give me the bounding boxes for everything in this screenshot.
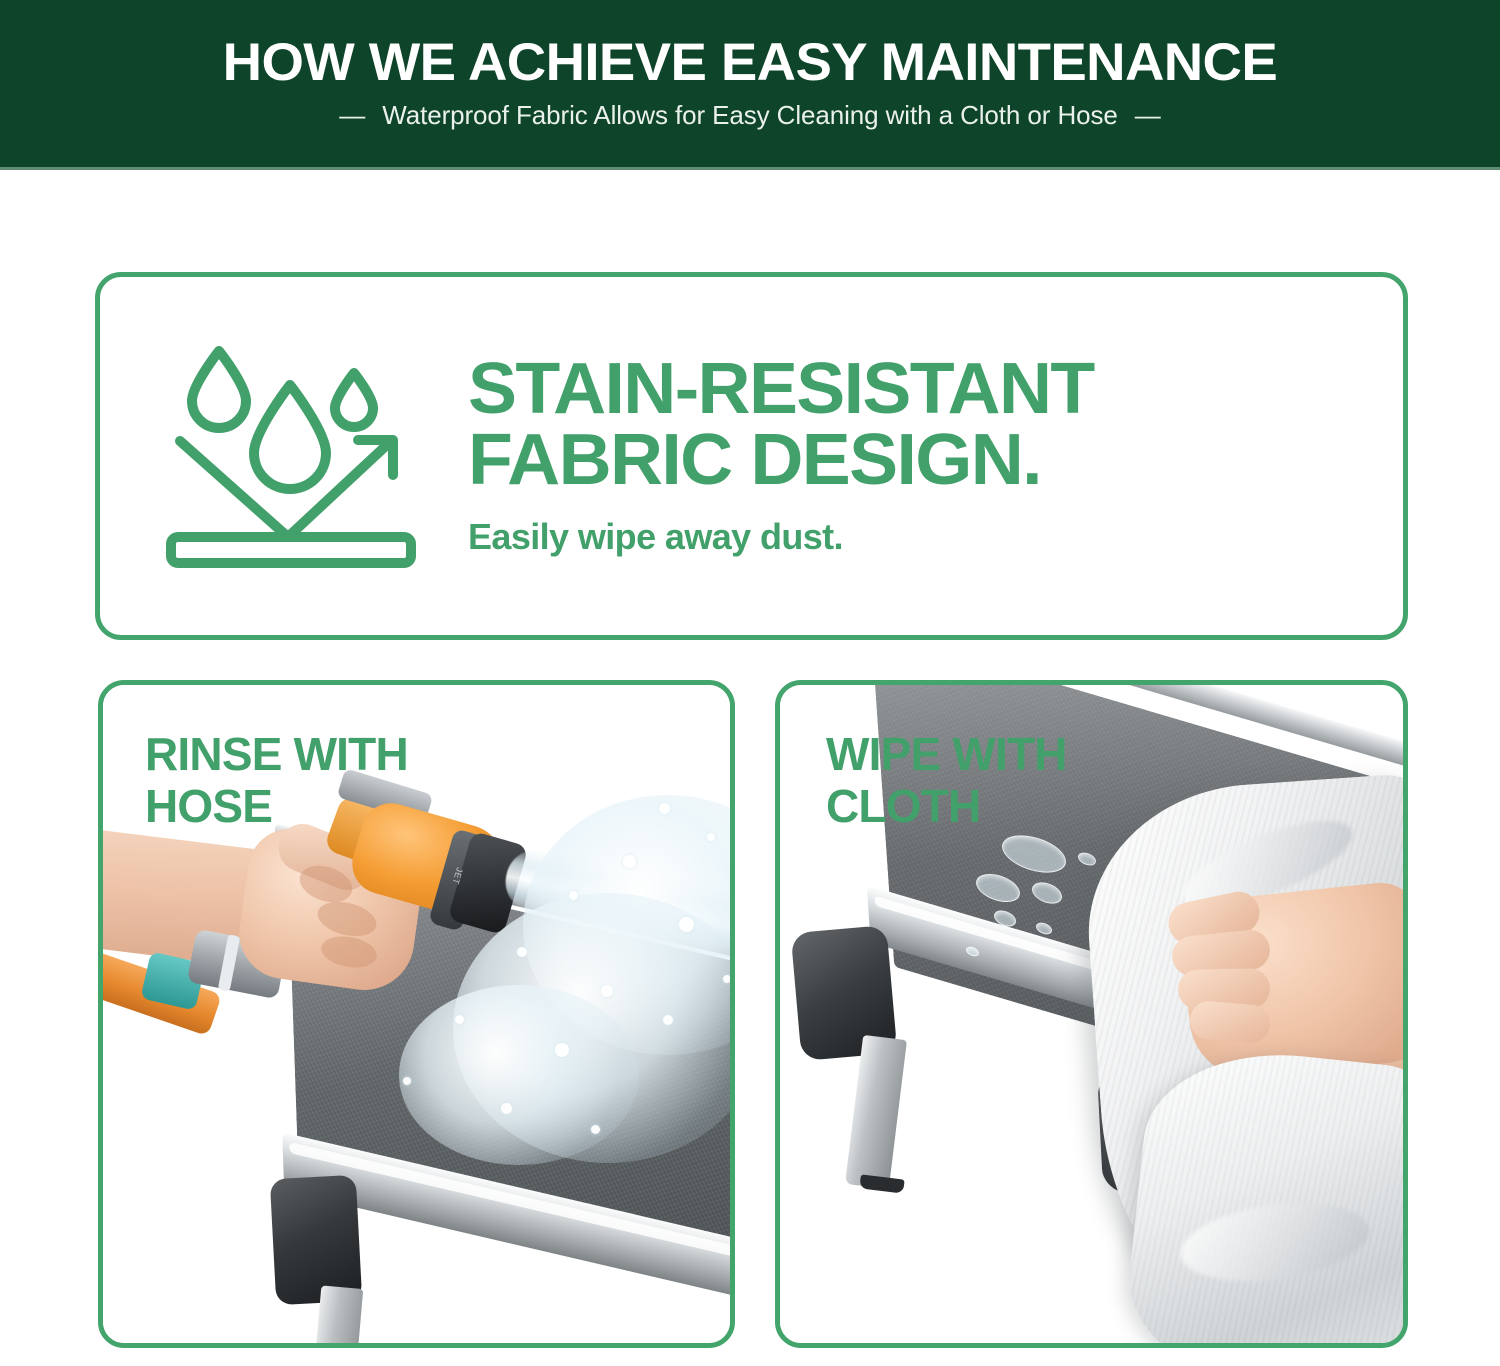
card-label-line-1: WIPE WITH bbox=[826, 728, 1067, 780]
water-droplet bbox=[663, 1015, 673, 1025]
card-label-line-2: HOSE bbox=[145, 780, 272, 832]
feature-heading-line-2: FABRIC DESIGN. bbox=[468, 425, 1401, 496]
feature-heading-line-1: STAIN-RESISTANT bbox=[468, 354, 1401, 425]
card-label-line-2: CLOTH bbox=[826, 780, 980, 832]
water-droplet bbox=[679, 917, 694, 932]
water-repellent-fabric-icon bbox=[162, 341, 430, 578]
page-header: HOW WE ACHIEVE EASY MAINTENANCE — Waterp… bbox=[0, 0, 1500, 170]
water-droplet bbox=[623, 855, 636, 868]
water-droplet bbox=[403, 1077, 411, 1085]
water-droplet bbox=[455, 1015, 464, 1024]
card-label-rinse-with-hose: RINSE WITHHOSE bbox=[145, 729, 408, 833]
page-title: HOW WE ACHIEVE EASY MAINTENANCE bbox=[223, 36, 1278, 90]
water-droplet bbox=[601, 985, 613, 997]
card-label-wipe-with-cloth: WIPE WITHCLOTH bbox=[826, 729, 1067, 833]
finger bbox=[1188, 1000, 1271, 1045]
card-label-line-1: RINSE WITH bbox=[145, 728, 408, 780]
water-droplet bbox=[707, 833, 715, 841]
bed-leg-left bbox=[845, 1035, 907, 1189]
water-droplet bbox=[659, 803, 670, 814]
feature-subtitle: Easily wipe away dust. bbox=[468, 516, 1383, 558]
water-droplet bbox=[555, 1043, 569, 1057]
bed-corner-cap-left bbox=[270, 1175, 362, 1305]
method-card-wipe-with-cloth: WIPE WITHCLOTH bbox=[775, 680, 1408, 1348]
method-card-rinse-with-hose: JET RINSE WITHHOSE bbox=[98, 680, 735, 1348]
water-droplet bbox=[723, 975, 730, 983]
em-dash-right-icon: — bbox=[1135, 102, 1161, 128]
header-subtitle-row: — Waterproof Fabric Allows for Easy Clea… bbox=[339, 100, 1161, 131]
water-droplet bbox=[591, 1125, 600, 1134]
water-droplet bbox=[517, 947, 527, 957]
page-subtitle: Waterproof Fabric Allows for Easy Cleani… bbox=[382, 100, 1118, 131]
feature-card-text: STAIN-RESISTANT FABRIC DESIGN. Easily wi… bbox=[468, 354, 1403, 559]
bed-leg-foot-left bbox=[859, 1174, 904, 1193]
feature-card-stain-resistant: STAIN-RESISTANT FABRIC DESIGN. Easily wi… bbox=[95, 272, 1408, 640]
water-droplet bbox=[569, 891, 578, 900]
em-dash-left-icon: — bbox=[339, 102, 365, 128]
infographic-page: HOW WE ACHIEVE EASY MAINTENANCE — Waterp… bbox=[0, 0, 1500, 1366]
water-droplet bbox=[501, 1103, 512, 1114]
